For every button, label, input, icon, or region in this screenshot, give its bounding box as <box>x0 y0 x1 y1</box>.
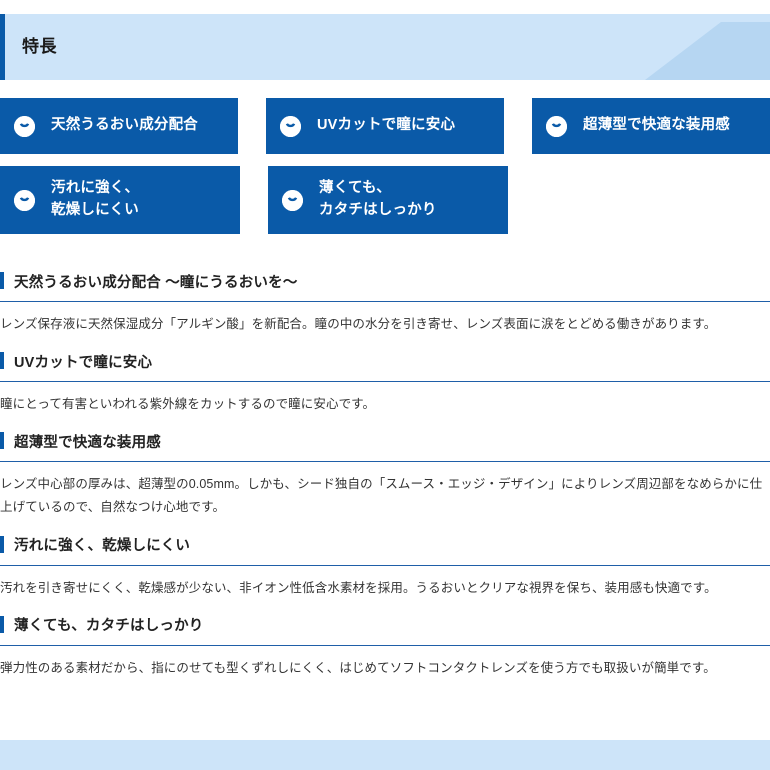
section-body-text: 瞳にとって有害といわれる紫外線をカットするので瞳に安心です。 <box>0 382 770 426</box>
feature-button-label: 天然うるおい成分配合 <box>51 115 198 137</box>
feature-button-grid: 天然うるおい成分配合 UVカットで瞳に安心 <box>0 98 770 246</box>
feature-button-uv-cut[interactable]: UVカットで瞳に安心 <box>266 98 504 154</box>
feature-button-label: 汚れに強く、 乾燥しにくい <box>51 178 139 222</box>
feature-button-label: 超薄型で快適な装用感 <box>583 115 730 137</box>
chevron-down-circle-icon <box>282 190 303 211</box>
section-uv-cut: UVカットで瞳に安心 瞳にとって有害といわれる紫外線をカットするので瞳に安心です… <box>0 346 770 426</box>
feature-button-ultra-thin[interactable]: 超薄型で快適な装用感 <box>532 98 770 154</box>
feature-button-moisture[interactable]: 天然うるおい成分配合 <box>0 98 238 154</box>
chevron-down-circle-icon <box>14 116 35 137</box>
section-title: UVカットで瞳に安心 <box>14 351 152 372</box>
section-heading: UVカットで瞳に安心 <box>0 346 770 376</box>
feature-button-row-2: 汚れに強く、 乾燥しにくい 薄くても、 カタチはしっかり <box>0 166 770 234</box>
section-shape-retention: 薄くても、カタチはしっかり 弾力性のある素材だから、指にのせても型くずれしにくく… <box>0 610 770 690</box>
header-accent-bar <box>0 14 5 80</box>
bottom-decoration-band <box>0 740 770 770</box>
feature-button-row-1: 天然うるおい成分配合 UVカットで瞳に安心 <box>0 98 770 154</box>
section-body-text: 汚れを引き寄せにくく、乾燥感が少ない、非イオン性低含水素材を採用。うるおいとクリ… <box>0 566 770 610</box>
section-title: 天然うるおい成分配合 ～瞳にうるおいを～ <box>14 271 298 292</box>
feature-button-label: UVカットで瞳に安心 <box>317 115 455 137</box>
feature-button-stain-resistant[interactable]: 汚れに強く、 乾燥しにくい <box>0 166 240 234</box>
section-heading: 汚れに強く、乾燥しにくい <box>0 530 770 560</box>
section-heading: 天然うるおい成分配合 ～瞳にうるおいを～ <box>0 266 770 296</box>
page-header-banner: 特長 <box>0 14 770 80</box>
chevron-down-circle-icon <box>14 190 35 211</box>
section-moisture: 天然うるおい成分配合 ～瞳にうるおいを～ レンズ保存液に天然保湿成分「アルギン酸… <box>0 266 770 346</box>
section-heading: 超薄型で快適な装用感 <box>0 426 770 456</box>
section-body-text: レンズ保存液に天然保湿成分「アルギン酸」を新配合。瞳の中の水分を引き寄せ、レンズ… <box>0 302 770 346</box>
feature-sections: 天然うるおい成分配合 ～瞳にうるおいを～ レンズ保存液に天然保湿成分「アルギン酸… <box>0 266 770 690</box>
feature-button-shape-retention[interactable]: 薄くても、 カタチはしっかり <box>268 166 508 234</box>
section-body-text: 弾力性のある素材だから、指にのせても型くずれしにくく、はじめてソフトコンタクトレ… <box>0 646 770 690</box>
chevron-down-circle-icon <box>280 116 301 137</box>
section-heading: 薄くても、カタチはしっかり <box>0 610 770 640</box>
section-title: 汚れに強く、乾燥しにくい <box>14 534 190 555</box>
chevron-down-circle-icon <box>546 116 567 137</box>
section-stain-resistant: 汚れに強く、乾燥しにくい 汚れを引き寄せにくく、乾燥感が少ない、非イオン性低含水… <box>0 530 770 610</box>
feature-button-label: 薄くても、 カタチはしっかり <box>319 178 437 222</box>
header-diagonal-decoration <box>645 22 770 80</box>
page-title: 特長 <box>22 14 57 80</box>
section-title: 薄くても、カタチはしっかり <box>14 614 204 635</box>
feature-page: 特長 天然うるおい成分配合 <box>0 0 770 770</box>
section-body-text: レンズ中心部の厚みは、超薄型の0.05mm。しかも、シード独自の「スムース・エッ… <box>0 462 770 529</box>
section-ultra-thin: 超薄型で快適な装用感 レンズ中心部の厚みは、超薄型の0.05mm。しかも、シード… <box>0 426 770 529</box>
section-title: 超薄型で快適な装用感 <box>14 431 161 452</box>
